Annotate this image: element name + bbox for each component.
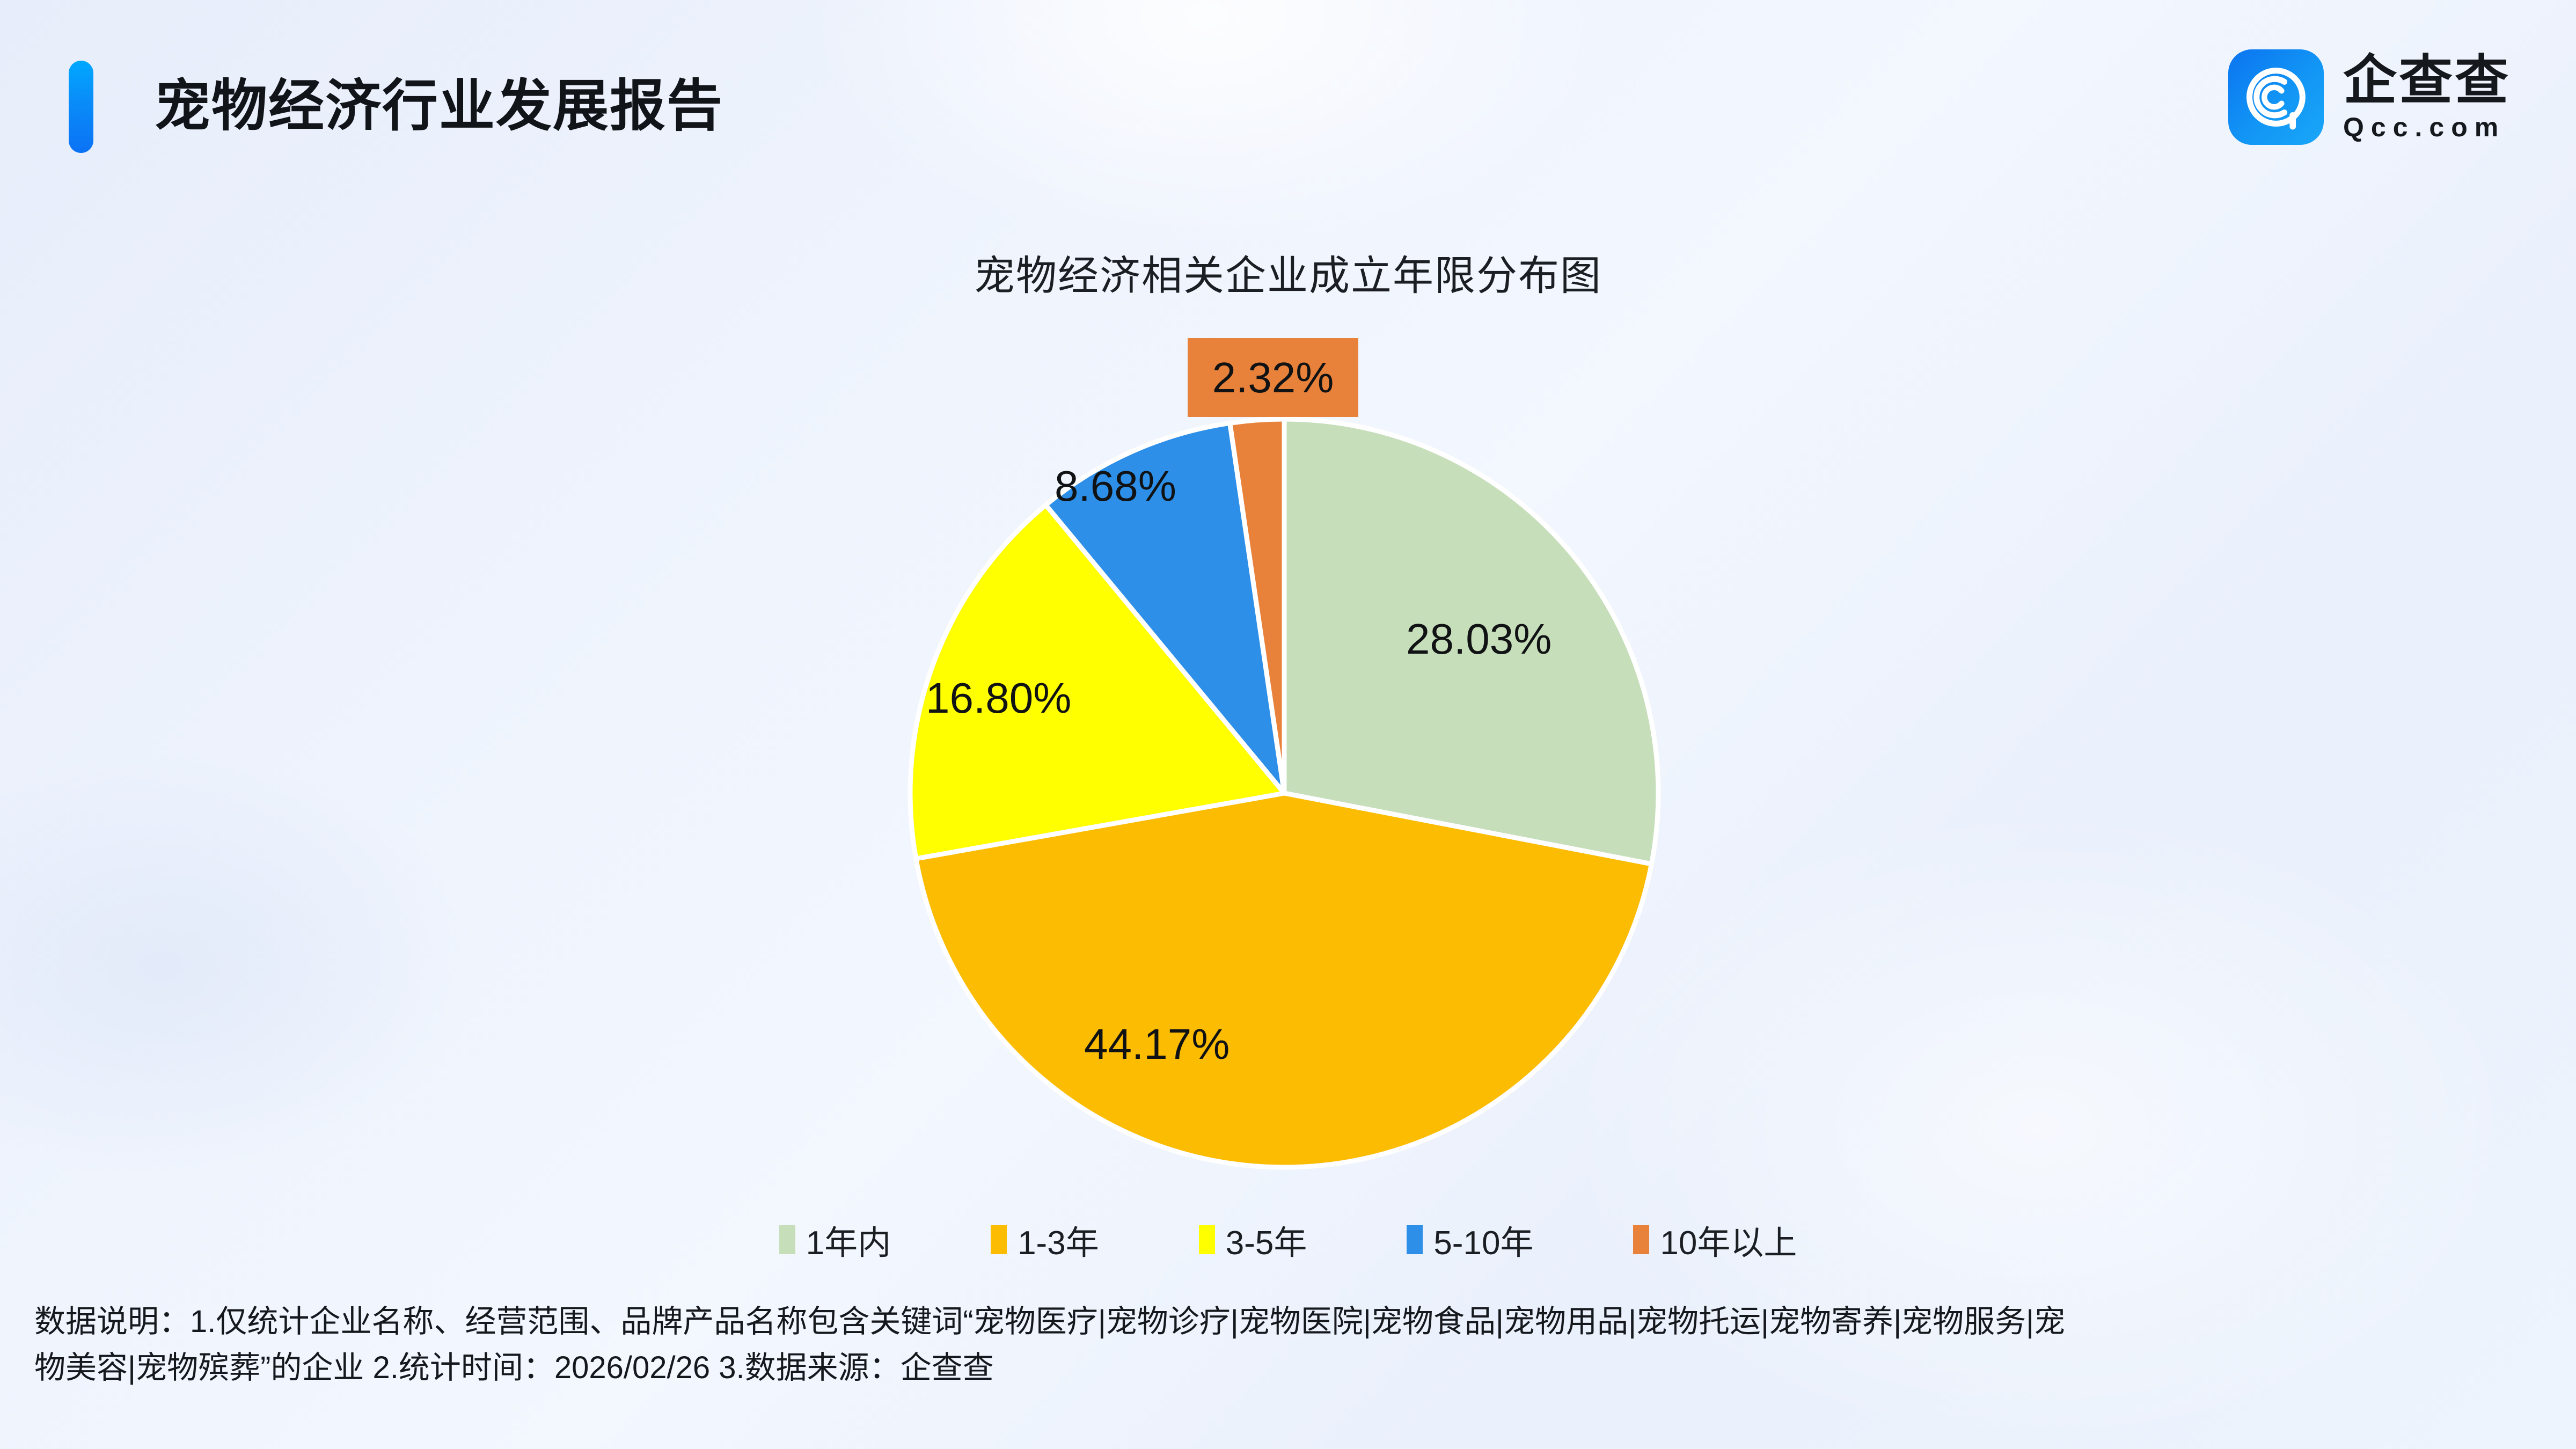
legend-item-label: 3-5年: [1226, 1216, 1307, 1264]
slice-value-label: 2.32%: [1212, 353, 1334, 402]
pie-slices: [910, 419, 1658, 1167]
chart-legend: 1年内1-3年3-5年5-10年10年以上: [0, 1216, 2576, 1264]
legend-item-label: 10年以上: [1660, 1216, 1797, 1264]
page-title: 宠物经济行业发展报告: [155, 54, 723, 159]
legend-item-5-10年[interactable]: 5-10年: [1407, 1216, 1533, 1264]
pie-slice-10年以上[interactable]: [1230, 419, 1284, 793]
footnote-line-1: 数据说明：1.仅统计企业名称、经营范围、品牌产品名称包含关键词“宠物医疗|宠物诊…: [34, 1304, 2065, 1339]
pie-chart-svg: [859, 365, 1717, 1224]
background-glow-left: [0, 751, 483, 1181]
footnote-line-2: 物美容|宠物殡葬”的企业 2.统计时间：2026/02/26 3.数据来源：企查…: [34, 1345, 2557, 1391]
brand-name-cn: 企查查: [2343, 50, 2511, 111]
slice-value-label-3-5年: 16.80%: [926, 674, 1071, 723]
legend-swatch-icon: [779, 1225, 795, 1254]
brand-text: 企查查 Qcc.com: [2343, 50, 2511, 144]
legend-item-label: 1-3年: [1018, 1216, 1099, 1264]
title-accent-bar: [69, 61, 93, 153]
legend-item-10年以上[interactable]: 10年以上: [1633, 1216, 1797, 1264]
legend-item-label: 5-10年: [1433, 1216, 1533, 1264]
legend-swatch-icon: [1407, 1225, 1423, 1254]
legend-swatch-icon: [991, 1225, 1007, 1254]
slice-value-label-1年内: 28.03%: [1406, 614, 1552, 664]
slice-callout-10年以上: 2.32%: [1188, 338, 1358, 417]
footnote: 数据说明：1.仅统计企业名称、经营范围、品牌产品名称包含关键词“宠物医疗|宠物诊…: [34, 1299, 2557, 1391]
pie-slice-1-3年[interactable]: [916, 793, 1652, 1167]
brand-logo: 企查查 Qcc.com: [2228, 49, 2511, 145]
legend-item-label: 1年内: [806, 1216, 891, 1264]
slice-value-label-5-10年: 8.68%: [1055, 462, 1176, 511]
report-header: 宠物经济行业发展报告 企查查 Qcc.com: [0, 0, 2576, 204]
slice-value-label-1-3年: 44.17%: [1084, 1020, 1230, 1069]
brand-domain: Qcc.com: [2343, 111, 2511, 144]
chart-title: 宠物经济相关企业成立年限分布图: [0, 243, 2576, 302]
legend-swatch-icon: [1633, 1225, 1649, 1254]
qcc-spiral-q-icon: [2228, 49, 2324, 145]
legend-item-1-3年[interactable]: 1-3年: [991, 1216, 1099, 1264]
legend-item-1年内[interactable]: 1年内: [779, 1216, 891, 1264]
legend-item-3-5年[interactable]: 3-5年: [1199, 1216, 1307, 1264]
legend-swatch-icon: [1199, 1225, 1215, 1254]
